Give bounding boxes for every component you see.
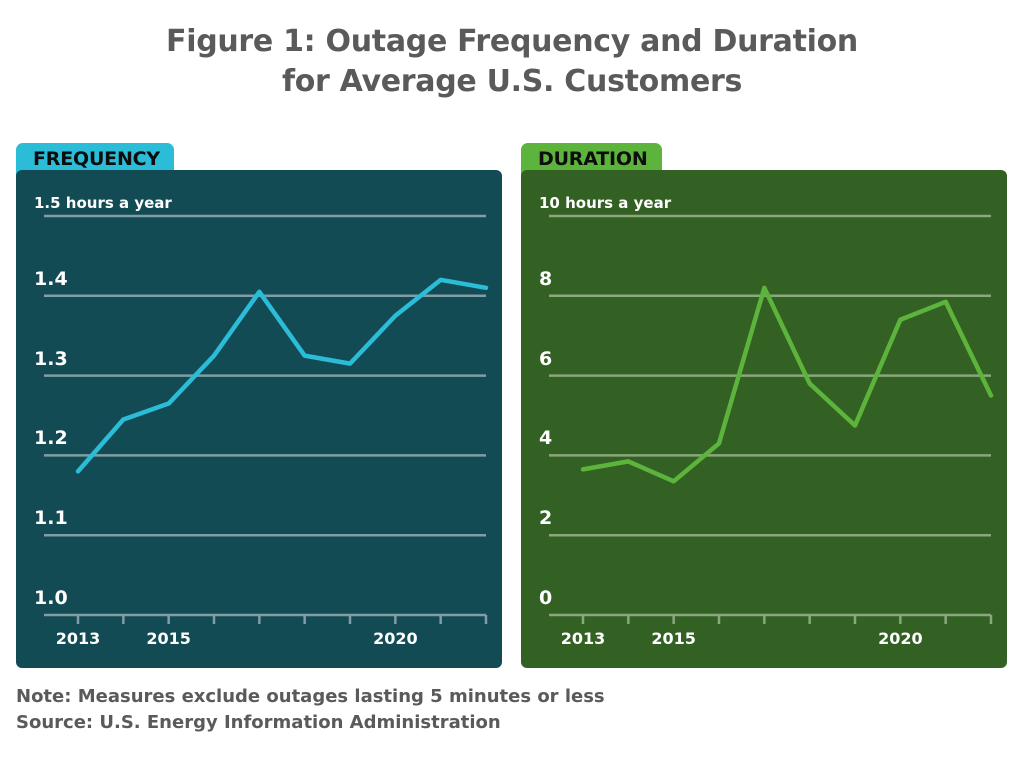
title-line-2: for Average U.S. Customers	[0, 62, 1024, 102]
line-chart-duration	[521, 170, 1007, 668]
x-axis-tick-label: 2015	[651, 629, 696, 648]
y-axis-tick-label: 6	[539, 348, 552, 370]
y-axis-tick-label: 1.4	[34, 268, 68, 290]
y-axis-tick-label: 2	[539, 507, 552, 529]
x-axis-tick-label: 2013	[56, 629, 101, 648]
tab-duration-label: DURATION	[538, 148, 648, 170]
footer-source: Source: U.S. Energy Information Administ…	[16, 710, 716, 736]
plot-duration: 10 hours a year 02468201320152020	[521, 170, 1007, 668]
y-axis-tick-label: 1.2	[34, 427, 68, 449]
x-axis-tick-label: 2013	[561, 629, 606, 648]
x-axis-tick-label: 2020	[878, 629, 923, 648]
y-axis-tick-label: 1.3	[34, 348, 68, 370]
chart-panel-frequency: 1.5 hours a year 1.01.11.21.31.420132015…	[16, 170, 502, 668]
page-title: Figure 1: Outage Frequency and Duration …	[0, 22, 1024, 102]
y-axis-tick-label: 8	[539, 268, 552, 290]
x-axis-tick-label: 2015	[146, 629, 191, 648]
y-axis-tick-label: 1.0	[34, 587, 68, 609]
plot-frequency: 1.5 hours a year 1.01.11.21.31.420132015…	[16, 170, 502, 668]
title-line-1: Figure 1: Outage Frequency and Duration	[0, 22, 1024, 62]
data-series-line	[583, 288, 991, 482]
line-chart-frequency	[16, 170, 502, 668]
y-axis-tick-label: 0	[539, 587, 552, 609]
footer-notes: Note: Measures exclude outages lasting 5…	[16, 684, 716, 736]
y-axis-tick-label: 1.1	[34, 507, 68, 529]
x-axis-tick-label: 2020	[373, 629, 418, 648]
footer-note: Note: Measures exclude outages lasting 5…	[16, 684, 716, 710]
tab-frequency-label: FREQUENCY	[33, 148, 160, 170]
y-axis-tick-label: 4	[539, 427, 552, 449]
figure-page: Figure 1: Outage Frequency and Duration …	[0, 0, 1024, 764]
chart-panel-duration: 10 hours a year 02468201320152020	[521, 170, 1007, 668]
